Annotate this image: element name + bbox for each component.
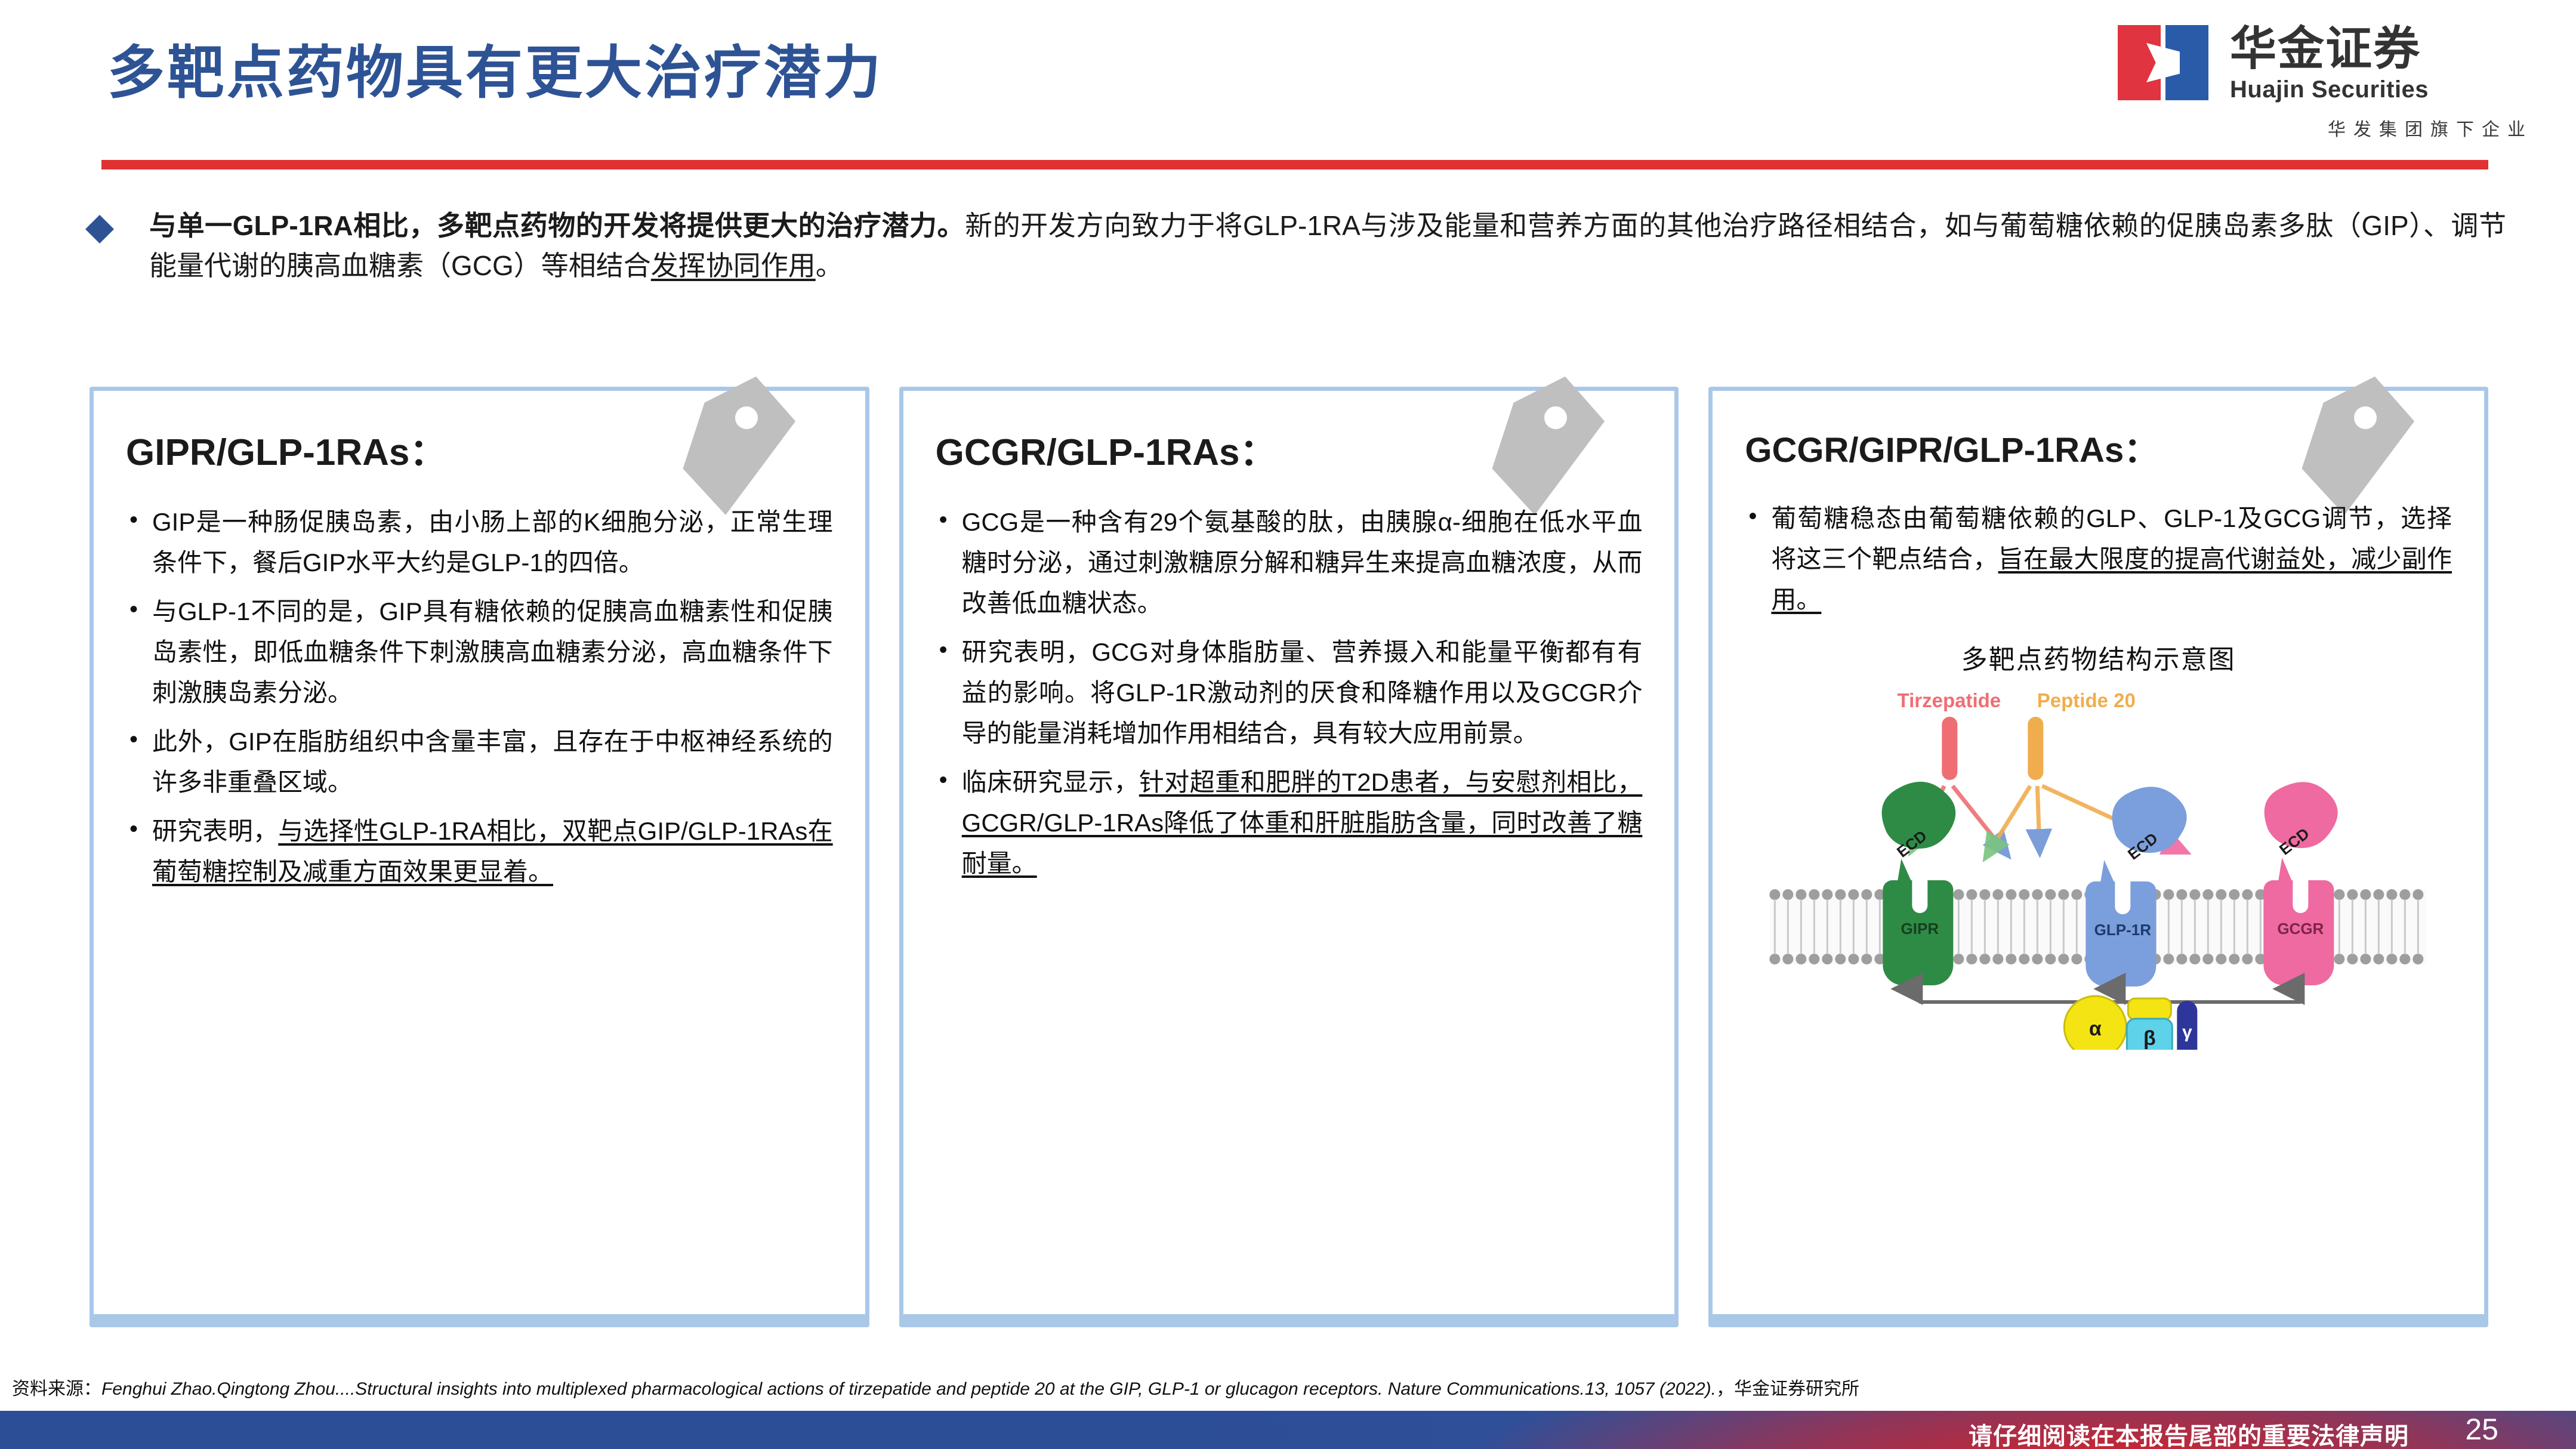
diagram-svg: Tirzepatide Peptide 20 <box>1745 680 2452 1050</box>
card-gcgr-gipr-glp1ras: GCGR/GIPR/GLP-1RAs： 葡萄糖稳态由葡萄糖依赖的GLP、GLP-… <box>1708 387 2488 1327</box>
receptor-gipr: ECD GIPR <box>1882 782 1956 985</box>
drug-label-tirzepatide: Tirzepatide <box>1898 689 2001 711</box>
g-alpha-label: α <box>2089 1018 2102 1040</box>
bullet-text: GCG是一种含有29个氨基酸的肽，由胰腺α-细胞在低水平血糖时分泌，通过刺激糖原… <box>962 508 1643 617</box>
receptor-label-gipr: GIPR <box>1901 920 1939 938</box>
receptor-gcgr: ECD GCGR <box>2264 782 2338 985</box>
receptor-diagram: 多靶点药物结构示意图 <box>1745 638 2452 1050</box>
bullet-text: GIP是一种肠促胰岛素，由小肠上部的K细胞分泌，正常生理条件下，餐后GIP水平大… <box>152 508 833 576</box>
lead-end-punct: 。 <box>816 250 843 281</box>
bullet-text: 研究表明，GCG对身体脂肪量、营养摄入和能量平衡都有有益的影响。将GLP-1R激… <box>962 638 1643 747</box>
g-gamma-label: γ <box>2182 1022 2192 1042</box>
source-label: 资料来源： <box>12 1379 101 1399</box>
source-text: Fenghui Zhao.Qingtong Zhou....Structural… <box>101 1379 1716 1399</box>
list-item: 此外，GIP在脂肪组织中含量丰富，且存在于中枢神经系统的许多非重叠区域。 <box>126 722 833 803</box>
diamond-bullet-icon <box>85 215 114 243</box>
bullet-lead: 研究表明， <box>152 817 278 845</box>
lead-bold-part: 与单一GLP-1RA相比，多靶点药物的开发将提供更大的治疗潜力。 <box>149 210 965 241</box>
list-item: 研究表明，GCG对身体脂肪量、营养摄入和能量平衡都有有益的影响。将GLP-1R激… <box>936 632 1643 754</box>
diagram-caption: 多靶点药物结构示意图 <box>1745 638 2452 676</box>
list-item: 研究表明，与选择性GLP-1RA相比，双靶点GIP/GLP-1RAs在葡萄糖控制… <box>126 811 833 892</box>
company-logo: 华金证券 Huajin Securities 华发集团旗下企业 <box>2118 25 2535 162</box>
receptor-label-gcgr: GCGR <box>2278 920 2324 938</box>
page-title: 多靶点药物具有更大治疗潜力 <box>107 42 883 105</box>
list-item: 与GLP-1不同的是，GIP具有糖依赖的促胰高血糖素性和促胰岛素性，即低血糖条件… <box>126 591 833 713</box>
source-citation: 资料来源：Fenghui Zhao.Qingtong Zhou....Struc… <box>12 1374 2566 1400</box>
lead-paragraph-text: 与单一GLP-1RA相比，多靶点药物的开发将提供更大的治疗潜力。新的开发方向致力… <box>149 206 2506 285</box>
lead-underlined-tail: 发挥协同作用 <box>651 250 816 281</box>
logo-subtitle: 华发集团旗下企业 <box>2118 115 2535 141</box>
card-bullet-list: 葡萄糖稳态由葡萄糖依赖的GLP、GLP-1及GCG调节，选择将这三个靶点结合，旨… <box>1745 498 2452 620</box>
card-gipr-glp1ras: GIPR/GLP-1RAs： GIP是一种肠促胰岛素，由小肠上部的K细胞分泌，正… <box>90 387 869 1327</box>
list-item: 临床研究显示，针对超重和肥胖的T2D患者，与安慰剂相比，GCGR/GLP-1RA… <box>936 762 1643 884</box>
receptor-label-glp1r: GLP-1R <box>2094 921 2152 939</box>
slide: 多靶点药物具有更大治疗潜力 华金证券 Huajin Securities 华发集… <box>0 0 2576 1449</box>
card-row: GIPR/GLP-1RAs： GIP是一种肠促胰岛素，由小肠上部的K细胞分泌，正… <box>90 387 2488 1327</box>
g-beta-label: β <box>2143 1027 2156 1050</box>
logo-company-name-en: Huajin Securities <box>2230 78 2429 101</box>
huajin-logo-mark-icon <box>2118 25 2208 100</box>
page-number: 25 <box>2465 1412 2498 1447</box>
lead-paragraph: 与单一GLP-1RA相比，多靶点药物的开发将提供更大的治疗潜力。新的开发方向致力… <box>90 206 2506 285</box>
card-bullet-list: GCG是一种含有29个氨基酸的肽，由胰腺α-细胞在低水平血糖时分泌，通过刺激糖原… <box>936 502 1643 884</box>
drug-label-peptide20: Peptide 20 <box>2037 689 2136 711</box>
drug-capsule-tirzepatide <box>1942 717 1958 780</box>
diagram-canvas: Tirzepatide Peptide 20 <box>1745 680 2452 1050</box>
source-tail: ，华金证券研究所 <box>1716 1379 1859 1399</box>
logo-company-name-cn: 华金证券 <box>2230 25 2429 72</box>
g-protein-complex: α β γ <box>2065 996 2198 1050</box>
bullet-lead: 临床研究显示， <box>962 768 1139 796</box>
list-item: GCG是一种含有29个氨基酸的肽，由胰腺α-细胞在低水平血糖时分泌，通过刺激糖原… <box>936 502 1643 624</box>
card-gcgr-glp1ras: GCGR/GLP-1RAs： GCG是一种含有29个氨基酸的肽，由胰腺α-细胞在… <box>899 387 1679 1327</box>
list-item: GIP是一种肠促胰岛素，由小肠上部的K细胞分泌，正常生理条件下，餐后GIP水平大… <box>126 502 833 583</box>
drug-capsule-peptide20 <box>2028 717 2044 780</box>
legal-notice: 请仔细阅读在本报告尾部的重要法律声明 <box>1969 1417 2409 1449</box>
bullet-text: 此外，GIP在脂肪组织中含量丰富，且存在于中枢神经系统的许多非重叠区域。 <box>152 727 833 796</box>
card-bullet-list: GIP是一种肠促胰岛素，由小肠上部的K细胞分泌，正常生理条件下，餐后GIP水平大… <box>126 502 833 892</box>
list-item: 葡萄糖稳态由葡萄糖依赖的GLP、GLP-1及GCG调节，选择将这三个靶点结合，旨… <box>1745 498 2452 620</box>
bullet-text: 与GLP-1不同的是，GIP具有糖依赖的促胰高血糖素性和促胰岛素性，即低血糖条件… <box>152 597 833 707</box>
